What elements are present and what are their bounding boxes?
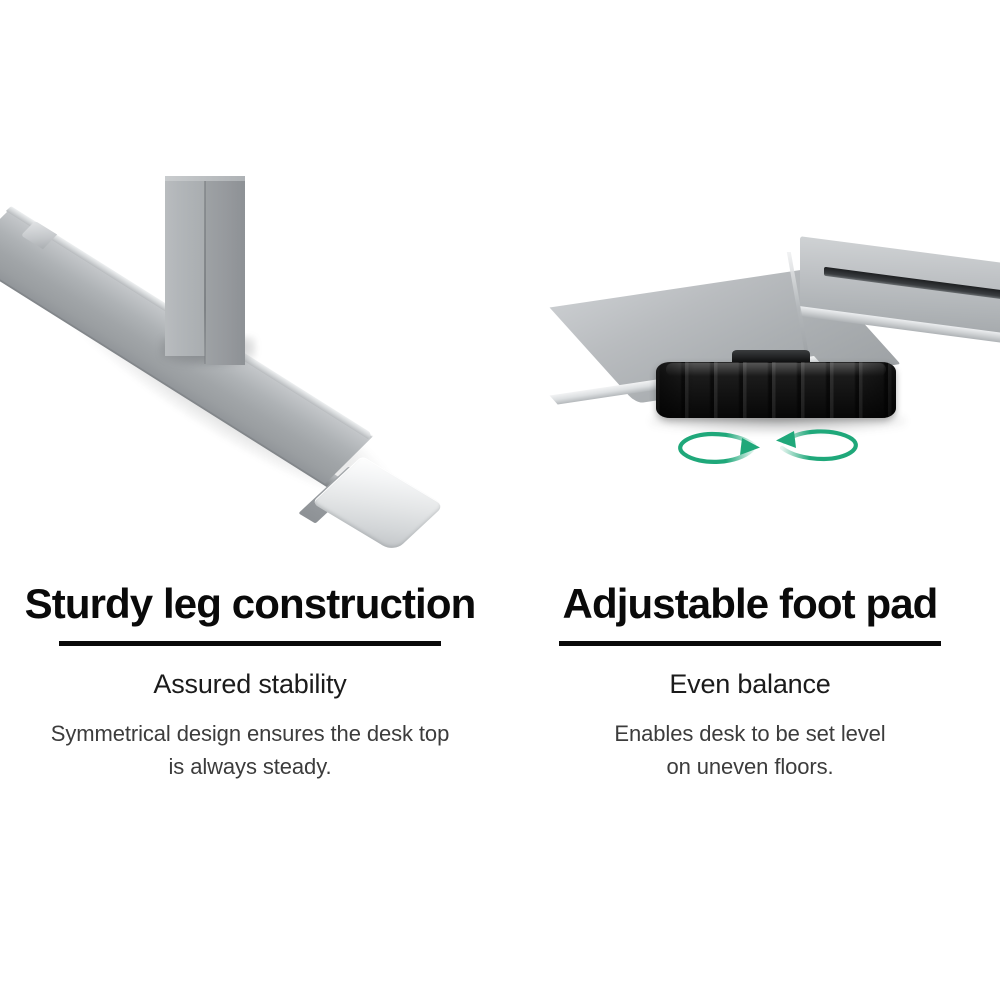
panel-subheading: Even balance (500, 668, 1000, 700)
panel-subheading: Assured stability (0, 668, 500, 700)
text-block-adjustable-foot-pad: Adjustable foot pad Even balance Enables… (500, 578, 1000, 783)
product-image-sturdy-leg (0, 0, 500, 570)
panel-sturdy-leg: Sturdy leg construction Assured stabilit… (0, 0, 500, 1000)
heading-underline-rule (559, 641, 941, 646)
panel-body-text: Enables desk to be set level on uneven f… (500, 717, 1000, 783)
body-line: on uneven floors. (500, 750, 1000, 783)
panel-adjustable-foot-pad: Adjustable foot pad Even balance Enables… (500, 0, 1000, 1000)
leg-column-right-face (205, 178, 245, 365)
rotation-arrow-left (680, 434, 760, 462)
text-block-sturdy-leg: Sturdy leg construction Assured stabilit… (0, 578, 500, 783)
body-line: Symmetrical design ensures the desk top (0, 717, 500, 750)
feature-image-page: Sturdy leg construction Assured stabilit… (0, 0, 1000, 1000)
foot-pad-illustration (500, 0, 1000, 570)
leg-column-top-cap (165, 176, 245, 181)
panel-row: Sturdy leg construction Assured stabilit… (0, 0, 1000, 1000)
adjustable-foot-pad-knob (656, 362, 896, 418)
panel-heading: Sturdy leg construction (0, 578, 500, 630)
heading-underline-rule (59, 641, 441, 646)
desk-leg-illustration (0, 0, 500, 570)
panel-heading: Adjustable foot pad (500, 578, 1000, 630)
leg-column-corner-edge (204, 178, 206, 364)
foot-pad-edge-shading (656, 362, 896, 418)
panel-body-text: Symmetrical design ensures the desk top … (0, 717, 500, 783)
leg-column-left-face (165, 178, 205, 356)
body-line: is always steady. (0, 750, 500, 783)
body-line: Enables desk to be set level (500, 717, 1000, 750)
rotation-arrow-right (776, 431, 856, 459)
product-image-adjustable-foot-pad (500, 0, 1000, 570)
rotation-arrows-icon (668, 420, 868, 478)
